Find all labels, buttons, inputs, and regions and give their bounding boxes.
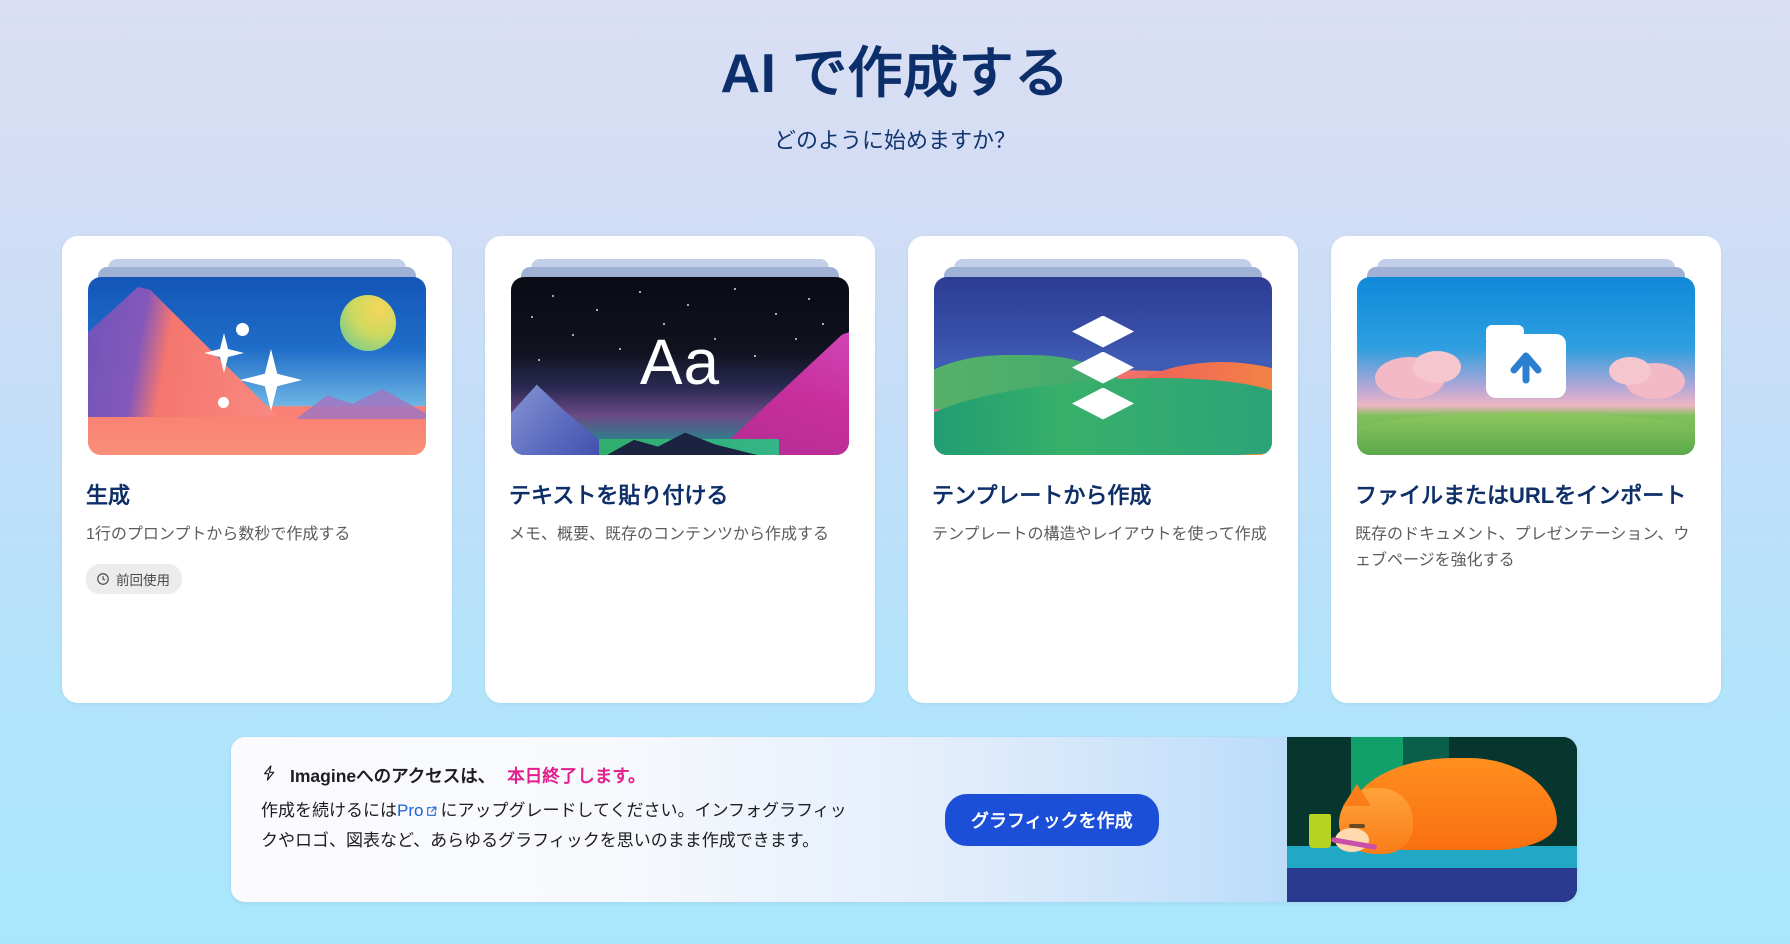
card-paste-text-thumbnail: Aa [509,259,851,459]
card-description: 既存のドキュメント、プレゼンテーション、ウェブページを強化する [1355,522,1697,574]
card-import-file-or-url[interactable]: ファイルまたはURLをインポート 既存のドキュメント、プレゼンテーション、ウェブ… [1331,236,1721,703]
banner-headline-prefix: Imagineへのアクセスは、 [290,763,495,788]
grass-shape [1357,413,1695,455]
mountain-shape [88,287,278,417]
page-subtitle: どのように始めますか？ [0,123,1790,155]
banner-body-part1: 作成を続けるには [261,801,397,820]
status-badge-label: 前回使用 [116,569,170,589]
card-generate[interactable]: 生成 1行のプロンプトから数秒で作成する 前回使用 [62,236,452,703]
banner-headline: Imagineへのアクセスは、本日終了します。 [261,763,931,788]
mountain-far-shape [296,385,426,419]
art-cat-ear [1343,784,1371,806]
card-description: 1行のプロンプトから数秒で作成する [86,522,428,548]
art-desk-front [1287,868,1577,902]
upgrade-banner: Imagineへのアクセスは、本日終了します。 作成を続けるにはPro にアップ… [231,737,1577,902]
creation-options-list: 生成 1行のプロンプトから数秒で作成する 前回使用 [62,236,1728,703]
thumbnail-image-import [1357,277,1695,455]
banner-text-block: Imagineへのアクセスは、本日終了します。 作成を続けるにはPro にアップ… [231,737,931,902]
card-from-template-thumbnail [932,259,1274,459]
sparkle-dot-icon [236,323,249,336]
card-description: テンプレートの構造やレイアウトを使って作成 [932,522,1274,548]
cloud-shape-4 [1609,357,1651,385]
status-badge: 前回使用 [86,564,182,594]
banner-cta-area: グラフィックを作成 [931,737,1287,902]
sun-shape [340,295,396,351]
art-green-cup [1309,814,1331,848]
card-description: メモ、概要、既存のコンテンツから作成する [509,522,851,548]
card-title: テキストを貼り付ける [509,481,851,510]
banner-headline-highlight: 本日終了します。 [507,763,645,788]
cloud-shape-2 [1413,351,1461,383]
card-paste-text[interactable]: Aa テキストを貼り付ける メモ、概要、既存のコンテンツから作成する [485,236,875,703]
thumbnail-image-template [934,277,1272,455]
thumbnail-image-paste-text: Aa [511,277,849,455]
layers-icon [1072,316,1134,424]
external-link-icon[interactable] [425,799,438,827]
art-cat-eye [1349,824,1365,828]
page-header: AI で作成する どのように始めますか？ [0,0,1790,155]
lightning-bolt-icon [261,763,278,788]
card-import-thumbnail [1355,259,1697,459]
card-title: テンプレートから作成 [932,481,1274,510]
create-graphic-button[interactable]: グラフィックを作成 [945,794,1159,846]
card-generate-thumbnail [86,259,428,459]
thumbnail-image-generate [88,277,426,455]
folder-upload-icon [1486,334,1566,398]
pro-upgrade-link[interactable]: Pro [397,801,423,820]
clock-icon [96,572,110,586]
page-title: AI で作成する [0,42,1790,105]
text-aa-icon: Aa [511,325,849,399]
card-from-template[interactable]: テンプレートから作成 テンプレートの構造やレイアウトを使って作成 [908,236,1298,703]
card-title: ファイルまたはURLをインポート [1355,481,1697,510]
pro-link-label: Pro [397,801,423,820]
sparkle-dot-icon-2 [218,397,229,408]
banner-body: 作成を続けるにはPro にアップグレードしてください。インフォグラフィックやロゴ… [261,797,861,855]
cat-illustration [1287,737,1577,902]
card-title: 生成 [86,481,428,510]
